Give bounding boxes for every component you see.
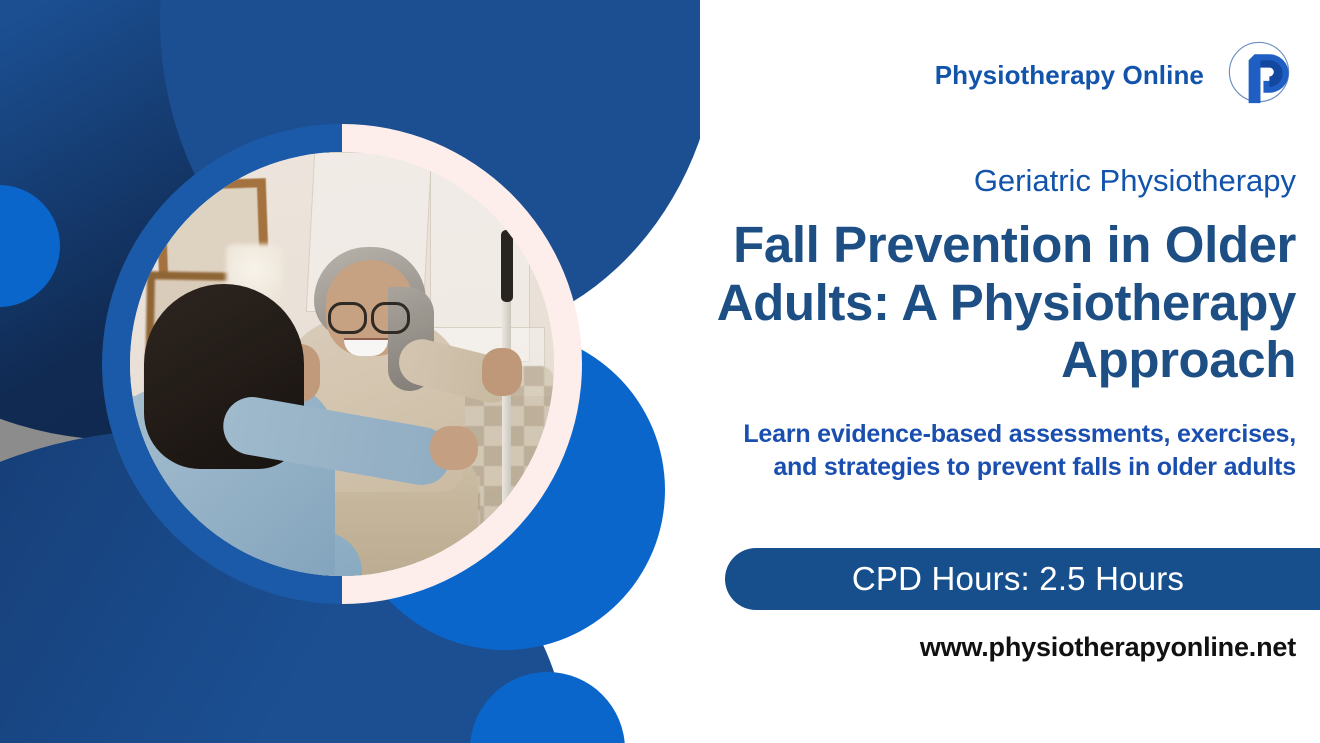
hero-photo xyxy=(130,152,554,576)
brand-name: Physiotherapy Online xyxy=(935,60,1204,91)
course-description: Learn evidence-based assessments, exerci… xyxy=(736,418,1296,485)
cpd-hours-badge: CPD Hours: 2.5 Hours xyxy=(725,548,1320,610)
cpd-hours-text: CPD Hours: 2.5 Hours xyxy=(852,560,1184,598)
brand-logo-icon xyxy=(1222,38,1296,112)
photo-color-tint xyxy=(130,152,554,576)
course-category: Geriatric Physiotherapy xyxy=(974,163,1296,199)
website-url: www.physiotherapyonline.net xyxy=(920,632,1296,663)
decorative-artwork xyxy=(0,0,700,743)
course-promo-banner: Physiotherapy Online Geriatric Physiothe… xyxy=(0,0,1320,743)
brand-lockup: Physiotherapy Online xyxy=(935,38,1296,112)
content-column: Physiotherapy Online Geriatric Physiothe… xyxy=(620,0,1320,743)
page-title: Fall Prevention in Older Adults: A Physi… xyxy=(636,216,1296,389)
hero-photo-scene xyxy=(130,152,554,576)
